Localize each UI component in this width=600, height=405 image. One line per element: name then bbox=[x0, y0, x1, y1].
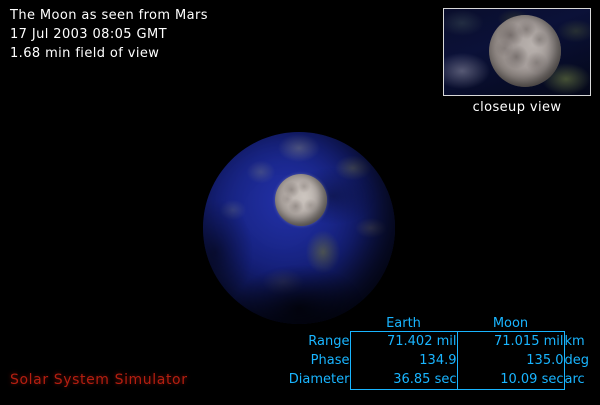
ephemeris-data-table: Earth Moon Range 71.402 mil 71.015 mil k… bbox=[268, 316, 598, 390]
closeup-scene bbox=[444, 9, 590, 95]
table-row: Range 71.402 mil 71.015 mil km bbox=[268, 332, 598, 352]
table-row: Phase 134.9 135.0 deg bbox=[268, 351, 598, 370]
table-head: Earth Moon bbox=[268, 316, 598, 332]
main-scene bbox=[203, 132, 395, 330]
table-header-row: Earth Moon bbox=[268, 316, 598, 332]
header-blank-corner bbox=[268, 316, 350, 332]
table-row: Diameter 36.85 sec 10.09 sec arc bbox=[268, 370, 598, 390]
cell-range-moon: 71.015 mil bbox=[457, 332, 564, 352]
header-blank-unit bbox=[564, 316, 598, 332]
cell-diameter-earth: 36.85 sec bbox=[350, 370, 457, 390]
title-line-field-of-view: 1.68 min field of view bbox=[10, 44, 208, 63]
moon-disc bbox=[275, 174, 327, 226]
unit-range: km bbox=[564, 332, 598, 352]
cell-phase-moon: 135.0 bbox=[457, 351, 564, 370]
cell-diameter-moon: 10.09 sec bbox=[457, 370, 564, 390]
row-label-diameter: Diameter bbox=[268, 370, 350, 390]
title-line-subject: The Moon as seen from Mars bbox=[10, 6, 208, 25]
solar-system-simulator-view: The Moon as seen from Mars 17 Jul 2003 0… bbox=[0, 0, 600, 405]
closeup-moon-disc bbox=[489, 15, 561, 87]
closeup-view-panel bbox=[443, 8, 591, 96]
earth-globe bbox=[203, 132, 395, 324]
title-block: The Moon as seen from Mars 17 Jul 2003 0… bbox=[10, 6, 208, 63]
closeup-view-caption: closeup view bbox=[443, 100, 591, 115]
unit-diameter: arc bbox=[564, 370, 598, 390]
cell-phase-earth: 134.9 bbox=[350, 351, 457, 370]
cell-range-earth: 71.402 mil bbox=[350, 332, 457, 352]
title-line-datetime: 17 Jul 2003 08:05 GMT bbox=[10, 25, 208, 44]
app-branding-label: Solar System Simulator bbox=[10, 372, 188, 388]
column-header-moon: Moon bbox=[457, 316, 564, 332]
row-label-phase: Phase bbox=[268, 351, 350, 370]
unit-phase: deg bbox=[564, 351, 598, 370]
row-label-range: Range bbox=[268, 332, 350, 352]
table-body: Range 71.402 mil 71.015 mil km Phase 134… bbox=[268, 332, 598, 390]
column-header-earth: Earth bbox=[350, 316, 457, 332]
data-table: Earth Moon Range 71.402 mil 71.015 mil k… bbox=[268, 316, 598, 390]
